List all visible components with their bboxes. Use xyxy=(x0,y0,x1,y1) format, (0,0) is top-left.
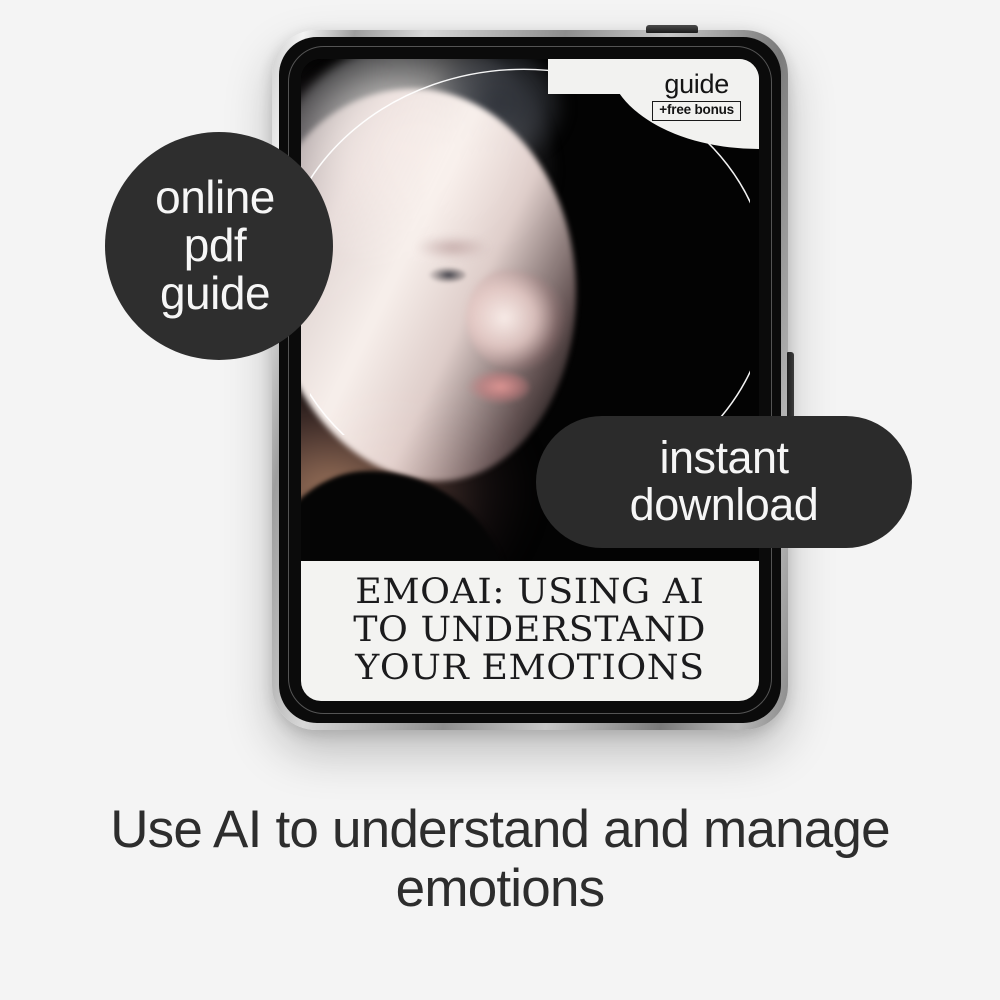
badge-instant-download-line-1: instant xyxy=(630,435,819,482)
cover-title-line-2: TO UNDERSTAND xyxy=(354,611,707,649)
badge-instant-download-text: instant download xyxy=(630,435,819,529)
tablet-screen: guide +free bonus EMOAI: USING AI TO UND… xyxy=(301,59,759,701)
cover-title-panel: EMOAI: USING AI TO UNDERSTAND YOUR EMOTI… xyxy=(301,561,759,701)
product-mockup-canvas: guide +free bonus EMOAI: USING AI TO UND… xyxy=(0,0,1000,1000)
artwork-eyebrow xyxy=(416,235,489,260)
badge-online-pdf-guide-line-2: pdf xyxy=(155,222,275,270)
cover-guide-tag-subtitle: +free bonus xyxy=(652,101,741,121)
badge-online-pdf-guide[interactable]: online pdf guide xyxy=(105,132,333,360)
badge-instant-download-line-2: download xyxy=(630,482,819,529)
page-caption: Use AI to understand and manage emotions xyxy=(0,800,1000,919)
page-caption-line-1: Use AI to understand and manage xyxy=(32,800,968,859)
cover-guide-tag-title: guide xyxy=(652,71,741,98)
badge-online-pdf-guide-line-3: guide xyxy=(155,270,275,318)
page-caption-line-2: emotions xyxy=(32,859,968,918)
tablet-device: guide +free bonus EMOAI: USING AI TO UND… xyxy=(272,30,788,730)
cover-title-line-1: EMOAI: USING AI xyxy=(355,573,704,611)
ebook-cover: guide +free bonus EMOAI: USING AI TO UND… xyxy=(301,59,759,701)
badge-instant-download[interactable]: instant download xyxy=(536,416,912,548)
badge-online-pdf-guide-text: online pdf guide xyxy=(155,174,283,317)
tablet-body: guide +free bonus EMOAI: USING AI TO UND… xyxy=(279,37,781,723)
cover-title-line-3: YOUR EMOTIONS xyxy=(355,649,704,687)
power-button-icon[interactable] xyxy=(646,25,698,33)
badge-online-pdf-guide-line-1: online xyxy=(155,174,275,222)
cover-guide-tag: guide +free bonus xyxy=(652,71,741,121)
